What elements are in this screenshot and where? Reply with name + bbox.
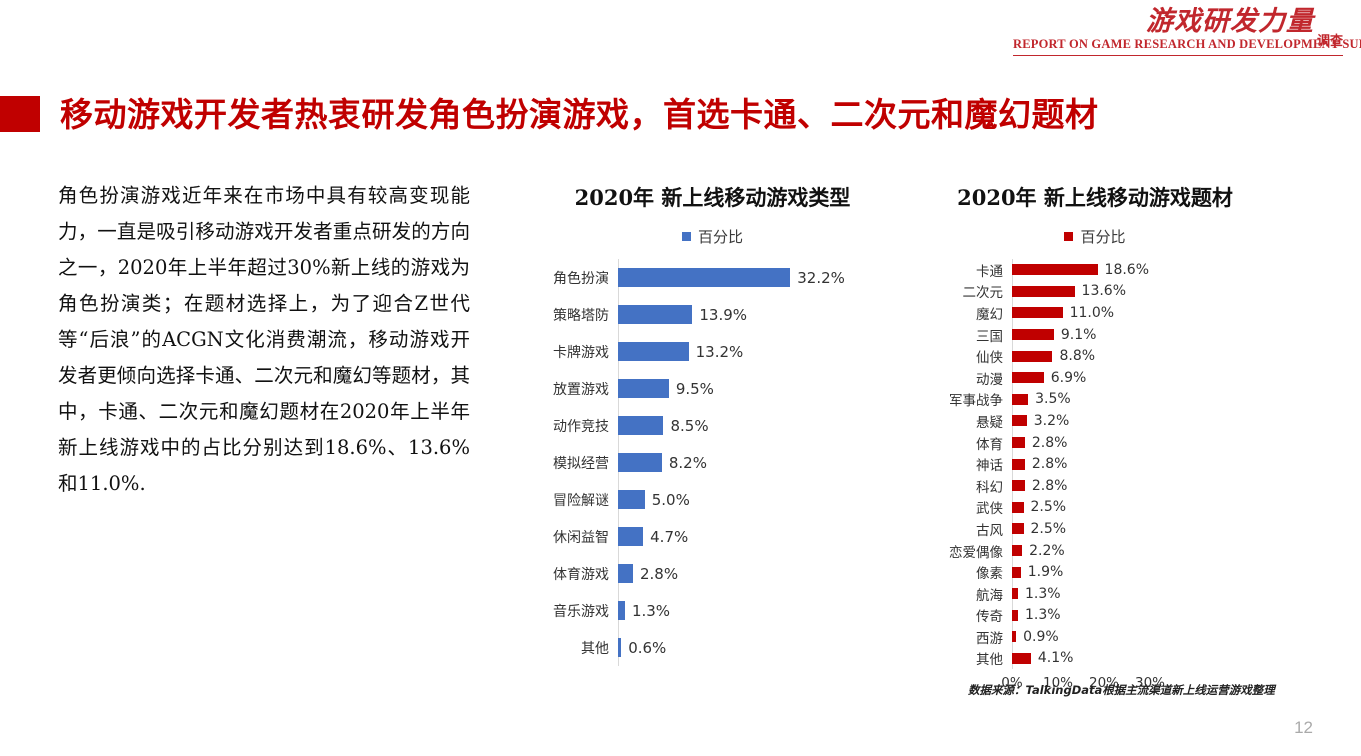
- title-accent-block: [0, 96, 40, 132]
- bar-track: 13.2%: [618, 342, 885, 361]
- bar-track: 2.8%: [1012, 435, 1260, 451]
- chart-bar-row: 冒险解谜5.0%: [540, 481, 885, 518]
- bar-category-label: 像素: [930, 562, 1012, 582]
- bar-track: 8.5%: [618, 416, 885, 435]
- bar-value-label: 3.2%: [1027, 413, 1070, 429]
- bar-track: 3.2%: [1012, 413, 1260, 429]
- bar-track: 13.6%: [1012, 283, 1260, 299]
- bar-value-label: 8.5%: [663, 417, 708, 435]
- bar-track: 2.2%: [1012, 543, 1260, 559]
- bar-track: 6.9%: [1012, 370, 1260, 386]
- report-logo: 游戏研发力量 调查 REPORT ON GAME RESEARCH AND DE…: [1013, 8, 1343, 56]
- bar-value-label: 1.9%: [1021, 564, 1064, 580]
- chart-legend: 百分比: [540, 226, 885, 247]
- chart-bar-row: 军事战争3.5%: [930, 389, 1260, 411]
- legend-swatch-icon: [1064, 232, 1073, 241]
- bar-value-label: 0.6%: [621, 639, 666, 657]
- bar-track: 11.0%: [1012, 305, 1260, 321]
- bar-track: 18.6%: [1012, 262, 1260, 278]
- bar-track: 4.7%: [618, 527, 885, 546]
- chart-bar-row: 体育游戏2.8%: [540, 555, 885, 592]
- bar-value-label: 8.2%: [662, 454, 707, 472]
- bar: [618, 342, 689, 361]
- chart-bar-row: 古风2.5%: [930, 518, 1260, 540]
- chart-bar-row: 西游0.9%: [930, 626, 1260, 648]
- bar-value-label: 1.3%: [1018, 586, 1061, 602]
- bar-value-label: 0.9%: [1016, 629, 1059, 645]
- narrative-paragraph: 角色扮演游戏近年来在市场中具有较高变现能力，一直是吸引移动游戏开发者重点研发的方…: [58, 178, 470, 502]
- chart-bar-row: 其他0.6%: [540, 629, 885, 666]
- bar: [618, 268, 790, 287]
- chart-bar-row: 音乐游戏1.3%: [540, 592, 885, 629]
- bar-category-label: 模拟经营: [540, 453, 618, 473]
- bar: [1012, 394, 1028, 405]
- bar: [618, 601, 625, 620]
- bar: [1012, 351, 1052, 362]
- bar-value-label: 4.1%: [1031, 650, 1074, 666]
- bar-category-label: 角色扮演: [540, 268, 618, 288]
- bar: [1012, 567, 1021, 578]
- bar: [1012, 502, 1024, 513]
- bar-track: 5.0%: [618, 490, 885, 509]
- bar: [1012, 545, 1022, 556]
- chart-bar-row: 休闲益智4.7%: [540, 518, 885, 555]
- bar-track: 1.9%: [1012, 564, 1260, 580]
- bar-category-label: 古风: [930, 519, 1012, 539]
- chart-bar-row: 体育2.8%: [930, 432, 1260, 454]
- bar-category-label: 放置游戏: [540, 379, 618, 399]
- chart-game-themes: 2020年 新上线移动游戏题材 百分比 卡通18.6%二次元13.6%魔幻11.…: [930, 182, 1260, 697]
- page-number: 12: [1294, 718, 1313, 738]
- bar: [1012, 329, 1054, 340]
- bar: [618, 564, 633, 583]
- bar-value-label: 3.5%: [1028, 391, 1071, 407]
- bar-value-label: 1.3%: [625, 602, 670, 620]
- bar-category-label: 卡通: [930, 260, 1012, 280]
- bar-value-label: 1.3%: [1018, 607, 1061, 623]
- bar-track: 32.2%: [618, 268, 885, 287]
- slide-root: 游戏研发力量 调查 REPORT ON GAME RESEARCH AND DE…: [0, 0, 1361, 756]
- bar: [1012, 264, 1098, 275]
- chart-bar-row: 动漫6.9%: [930, 367, 1260, 389]
- bar-category-label: 魔幻: [930, 303, 1012, 323]
- bar-value-label: 2.8%: [1025, 478, 1068, 494]
- chart-bar-row: 动作竞技8.5%: [540, 407, 885, 444]
- logo-title-cn: 游戏研发力量: [1146, 8, 1314, 35]
- bar-category-label: 军事战争: [930, 389, 1012, 409]
- chart-bar-row: 卡牌游戏13.2%: [540, 333, 885, 370]
- bar: [1012, 653, 1031, 664]
- bar-value-label: 9.5%: [669, 380, 714, 398]
- bar-value-label: 11.0%: [1063, 305, 1114, 321]
- chart-bar-row: 武侠2.5%: [930, 497, 1260, 519]
- bar-value-label: 9.1%: [1054, 327, 1097, 343]
- bar-value-label: 5.0%: [645, 491, 690, 509]
- bar-track: 0.6%: [618, 638, 885, 657]
- chart-bar-row: 二次元13.6%: [930, 281, 1260, 303]
- chart-plot-area: 卡通18.6%二次元13.6%魔幻11.0%三国9.1%仙侠8.8%动漫6.9%…: [930, 259, 1260, 669]
- bar-track: 9.1%: [1012, 327, 1260, 343]
- bar-category-label: 卡牌游戏: [540, 342, 618, 362]
- chart-title: 2020年 新上线移动游戏类型: [540, 182, 885, 212]
- slide-title-bar: 移动游戏开发者热衷研发角色扮演游戏，首选卡通、二次元和魔幻题材: [0, 96, 1099, 132]
- chart-bar-row: 其他4.1%: [930, 648, 1260, 670]
- bar-category-label: 神话: [930, 454, 1012, 474]
- chart-bar-row: 像素1.9%: [930, 561, 1260, 583]
- bar-value-label: 6.9%: [1044, 370, 1087, 386]
- bar: [1012, 437, 1025, 448]
- bar: [618, 490, 645, 509]
- bar: [618, 527, 643, 546]
- bar-track: 1.3%: [1012, 607, 1260, 623]
- bar-track: 0.9%: [1012, 629, 1260, 645]
- bar: [618, 416, 663, 435]
- bar-category-label: 悬疑: [930, 411, 1012, 431]
- chart-bar-row: 模拟经营8.2%: [540, 444, 885, 481]
- bar-value-label: 13.9%: [692, 306, 747, 324]
- bar-category-label: 体育: [930, 433, 1012, 453]
- logo-divider: [1013, 55, 1343, 56]
- bar-track: 1.3%: [618, 601, 885, 620]
- page-title: 移动游戏开发者热衷研发角色扮演游戏，首选卡通、二次元和魔幻题材: [60, 98, 1099, 131]
- chart-bar-row: 卡通18.6%: [930, 259, 1260, 281]
- chart-title: 2020年 新上线移动游戏题材: [930, 182, 1260, 212]
- bar-track: 2.8%: [1012, 478, 1260, 494]
- bar-track: 8.8%: [1012, 348, 1260, 364]
- legend-swatch-icon: [682, 232, 691, 241]
- bar-value-label: 13.6%: [1075, 283, 1126, 299]
- bar-value-label: 2.8%: [1025, 456, 1068, 472]
- bar-category-label: 航海: [930, 584, 1012, 604]
- chart-bar-row: 科幻2.8%: [930, 475, 1260, 497]
- legend-label: 百分比: [1080, 226, 1125, 247]
- bar-track: 9.5%: [618, 379, 885, 398]
- chart-legend: 百分比: [930, 226, 1260, 247]
- bar-category-label: 三国: [930, 325, 1012, 345]
- bar: [1012, 415, 1027, 426]
- bar-value-label: 8.8%: [1052, 348, 1095, 364]
- chart-bar-row: 仙侠8.8%: [930, 345, 1260, 367]
- bar: [618, 453, 662, 472]
- chart-bar-row: 恋爱偶像2.2%: [930, 540, 1260, 562]
- bar: [1012, 372, 1044, 383]
- chart-plot-area: 角色扮演32.2%策略塔防13.9%卡牌游戏13.2%放置游戏9.5%动作竞技8…: [540, 259, 885, 666]
- logo-row: 游戏研发力量 调查: [1013, 8, 1343, 35]
- bar-category-label: 动漫: [930, 368, 1012, 388]
- chart-bar-row: 放置游戏9.5%: [540, 370, 885, 407]
- bar-category-label: 体育游戏: [540, 564, 618, 584]
- legend-label: 百分比: [698, 226, 743, 247]
- bar-category-label: 其他: [540, 638, 618, 658]
- chart-bar-row: 魔幻11.0%: [930, 302, 1260, 324]
- bar-category-label: 动作竞技: [540, 416, 618, 436]
- bar: [618, 305, 692, 324]
- chart-rows: 角色扮演32.2%策略塔防13.9%卡牌游戏13.2%放置游戏9.5%动作竞技8…: [540, 259, 885, 666]
- chart-game-types: 2020年 新上线移动游戏类型 百分比 角色扮演32.2%策略塔防13.9%卡牌…: [540, 182, 885, 666]
- bar-category-label: 传奇: [930, 605, 1012, 625]
- bar-value-label: 13.2%: [689, 343, 744, 361]
- bar-track: 1.3%: [1012, 586, 1260, 602]
- bar: [1012, 480, 1025, 491]
- bar-category-label: 仙侠: [930, 346, 1012, 366]
- bar-value-label: 2.8%: [1025, 435, 1068, 451]
- bar-value-label: 18.6%: [1098, 262, 1149, 278]
- bar: [1012, 307, 1063, 318]
- bar-category-label: 恋爱偶像: [930, 541, 1012, 561]
- chart-bar-row: 三国9.1%: [930, 324, 1260, 346]
- bar-track: 8.2%: [618, 453, 885, 472]
- bar: [1012, 286, 1075, 297]
- chart-bar-row: 神话2.8%: [930, 453, 1260, 475]
- bar-category-label: 冒险解谜: [540, 490, 618, 510]
- chart-bar-row: 航海1.3%: [930, 583, 1260, 605]
- bar-track: 2.5%: [1012, 521, 1260, 537]
- bar-value-label: 2.2%: [1022, 543, 1065, 559]
- bar-category-label: 科幻: [930, 476, 1012, 496]
- bar: [618, 379, 669, 398]
- bar-category-label: 西游: [930, 627, 1012, 647]
- bar-category-label: 策略塔防: [540, 305, 618, 325]
- bar-category-label: 二次元: [930, 281, 1012, 301]
- chart-bar-row: 悬疑3.2%: [930, 410, 1260, 432]
- bar-track: 2.8%: [1012, 456, 1260, 472]
- bar-category-label: 休闲益智: [540, 527, 618, 547]
- bar-value-label: 2.8%: [633, 565, 678, 583]
- logo-subtitle-en: REPORT ON GAME RESEARCH AND DEVELOPMENT …: [1013, 37, 1343, 52]
- bar-value-label: 4.7%: [643, 528, 688, 546]
- chart-bar-row: 策略塔防13.9%: [540, 296, 885, 333]
- bar-category-label: 武侠: [930, 497, 1012, 517]
- bar-track: 13.9%: [618, 305, 885, 324]
- bar-category-label: 音乐游戏: [540, 601, 618, 621]
- bar-category-label: 其他: [930, 648, 1012, 668]
- chart-rows: 卡通18.6%二次元13.6%魔幻11.0%三国9.1%仙侠8.8%动漫6.9%…: [930, 259, 1260, 669]
- bar-track: 2.8%: [618, 564, 885, 583]
- bar-track: 4.1%: [1012, 650, 1260, 666]
- bar: [1012, 523, 1024, 534]
- bar-track: 2.5%: [1012, 499, 1260, 515]
- chart-bar-row: 传奇1.3%: [930, 605, 1260, 627]
- bar: [1012, 459, 1025, 470]
- source-note: 数据来源：TalkingData根据主流渠道新上线运营游戏整理: [968, 682, 1275, 698]
- bar-value-label: 2.5%: [1024, 521, 1067, 537]
- bar-track: 3.5%: [1012, 391, 1260, 407]
- chart-bar-row: 角色扮演32.2%: [540, 259, 885, 296]
- bar-value-label: 2.5%: [1024, 499, 1067, 515]
- bar-value-label: 32.2%: [790, 269, 845, 287]
